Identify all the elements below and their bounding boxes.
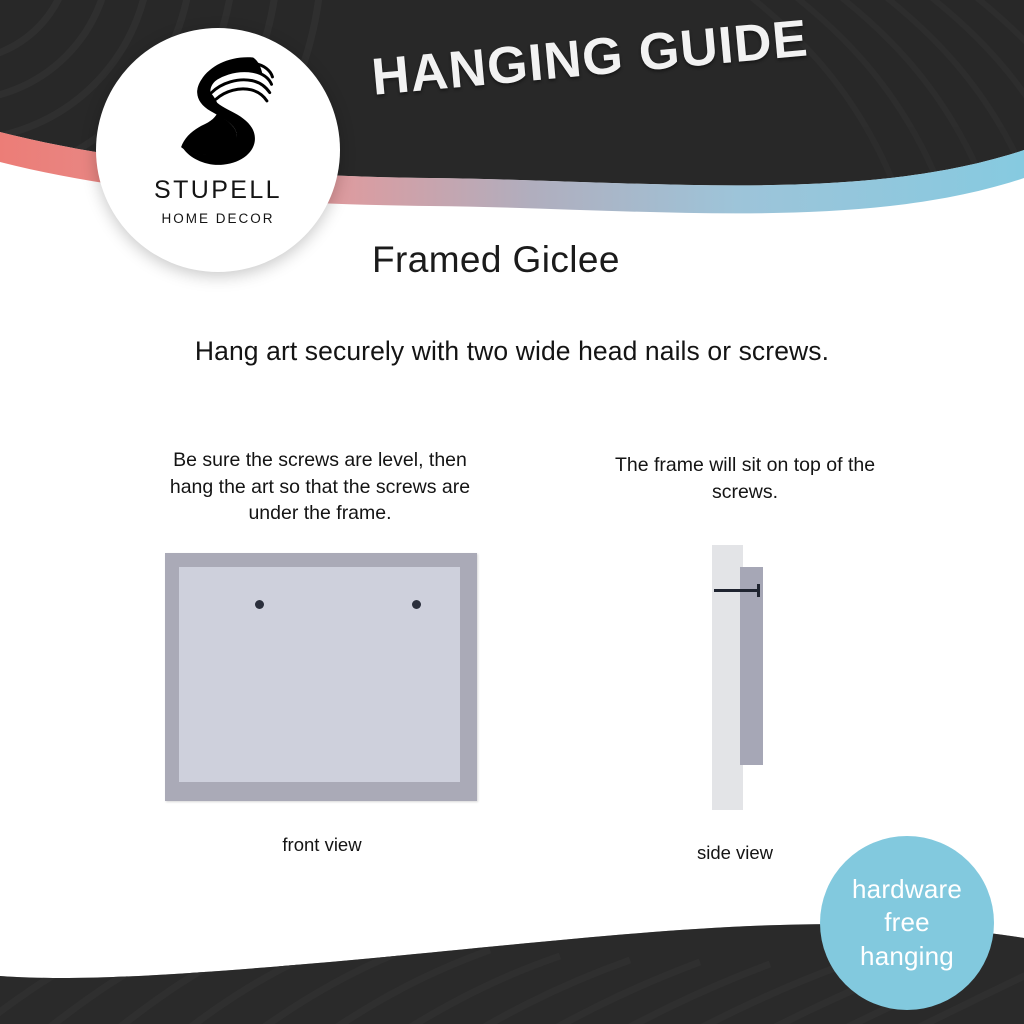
front-view-diagram — [165, 553, 477, 801]
brand-logo-badge: STUPELL HOME DECOR — [96, 28, 340, 272]
main-instruction-text: Hang art securely with two wide head nai… — [0, 336, 1024, 367]
nail-shaft-icon — [714, 589, 760, 592]
front-view-caption: Be sure the screws are level, then hang … — [150, 447, 490, 527]
wall-surface — [712, 545, 743, 810]
stupell-swirl-icon — [162, 52, 274, 172]
hardware-free-badge: hardware free hanging — [820, 836, 994, 1010]
frame-mat-area — [179, 567, 460, 782]
badge-line-2: free — [884, 906, 930, 940]
screw-hole-left — [255, 600, 264, 609]
page-title: HANGING GUIDE — [369, 1, 892, 108]
side-view-caption: The frame will sit on top of the screws. — [605, 452, 885, 505]
screw-hole-right — [412, 600, 421, 609]
side-view-diagram — [690, 545, 780, 810]
side-view-label: side view — [655, 842, 815, 864]
product-type-heading: Framed Giclee — [372, 239, 620, 281]
brand-tagline: HOME DECOR — [161, 212, 274, 226]
hanging-guide-page: STUPELL HOME DECOR HANGING GUIDE Framed … — [0, 0, 1024, 1024]
brand-name: STUPELL — [154, 178, 282, 203]
badge-line-3: hanging — [860, 940, 954, 974]
badge-line-1: hardware — [852, 873, 962, 907]
front-view-label: front view — [182, 834, 462, 856]
nail-head-icon — [757, 584, 760, 597]
